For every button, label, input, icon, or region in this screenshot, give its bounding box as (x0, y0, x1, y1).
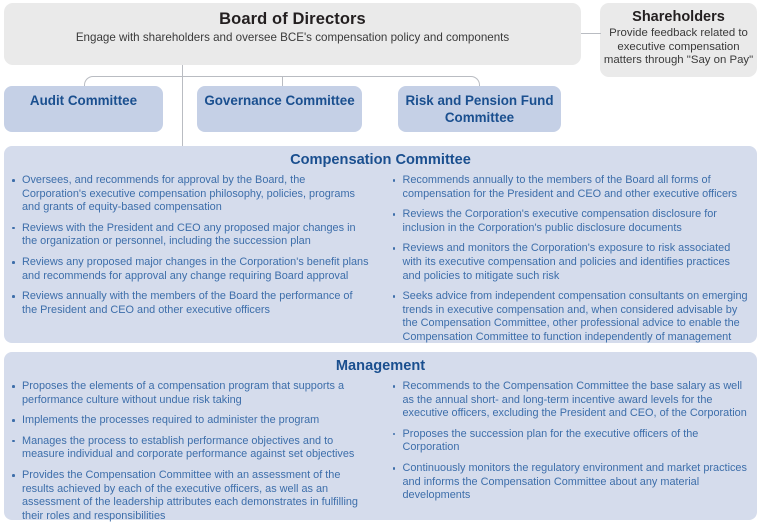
list-item: Manages the process to establish perform… (10, 435, 371, 462)
board-of-directors-title: Board of Directors (4, 9, 581, 29)
list-item: Proposes the elements of a compensation … (10, 380, 371, 407)
compensation-committee-panel: Compensation Committee Oversees, and rec… (4, 146, 757, 343)
compensation-committee-right-list: Recommends annually to the members of th… (391, 174, 752, 345)
list-item: Reviews and monitors the Corporation's e… (391, 242, 752, 283)
list-item: Reviews annually with the members of the… (10, 290, 371, 317)
audit-committee-label: Audit Committee (30, 93, 137, 108)
board-of-directors-box: Board of Directors Engage with sharehold… (4, 3, 581, 65)
governance-committee-box[interactable]: Governance Committee (197, 86, 362, 132)
management-right-list: Recommends to the Compensation Committee… (391, 380, 752, 503)
board-of-directors-description: Engage with shareholders and oversee BCE… (4, 31, 581, 45)
shareholders-box: Shareholders Provide feedback related to… (600, 3, 757, 77)
list-item: Reviews with the President and CEO any p… (10, 222, 371, 249)
compensation-committee-columns: Oversees, and recommends for approval by… (4, 170, 757, 352)
governance-committee-label: Governance Committee (204, 93, 354, 108)
list-item: Reviews any proposed major changes in th… (10, 256, 371, 283)
compensation-committee-title: Compensation Committee (4, 146, 757, 170)
management-right-column: Recommends to the Compensation Committee… (381, 380, 752, 530)
risk-and-pension-fund-committee-box[interactable]: Risk and Pension Fund Committee (398, 86, 561, 132)
risk-and-pension-fund-committee-label: Risk and Pension Fund Committee (405, 93, 553, 125)
management-left-list: Proposes the elements of a compensation … (10, 380, 371, 523)
list-item: Recommends annually to the members of th… (391, 174, 752, 201)
management-columns: Proposes the elements of a compensation … (4, 376, 757, 530)
compensation-committee-left-column: Oversees, and recommends for approval by… (10, 174, 381, 352)
list-item: Seeks advice from independent compensati… (391, 290, 752, 344)
compensation-committee-right-column: Recommends annually to the members of th… (381, 174, 752, 352)
list-item: Oversees, and recommends for approval by… (10, 174, 371, 215)
management-left-column: Proposes the elements of a compensation … (10, 380, 381, 530)
shareholders-description: Provide feedback related to executive co… (600, 27, 757, 68)
list-item: Recommends to the Compensation Committee… (391, 380, 752, 421)
list-item: Provides the Compensation Committee with… (10, 469, 371, 523)
management-title: Management (4, 352, 757, 376)
list-item: Proposes the succession plan for the exe… (391, 428, 752, 455)
list-item: Reviews the Corporation's executive comp… (391, 208, 752, 235)
management-panel: Management Proposes the elements of a co… (4, 352, 757, 520)
list-item: Continuously monitors the regulatory env… (391, 462, 752, 503)
compensation-committee-left-list: Oversees, and recommends for approval by… (10, 174, 371, 317)
shareholders-title: Shareholders (600, 8, 757, 26)
audit-committee-box[interactable]: Audit Committee (4, 86, 163, 132)
connector-board-to-shareholders (581, 33, 601, 34)
list-item: Implements the processes required to adm… (10, 414, 371, 428)
